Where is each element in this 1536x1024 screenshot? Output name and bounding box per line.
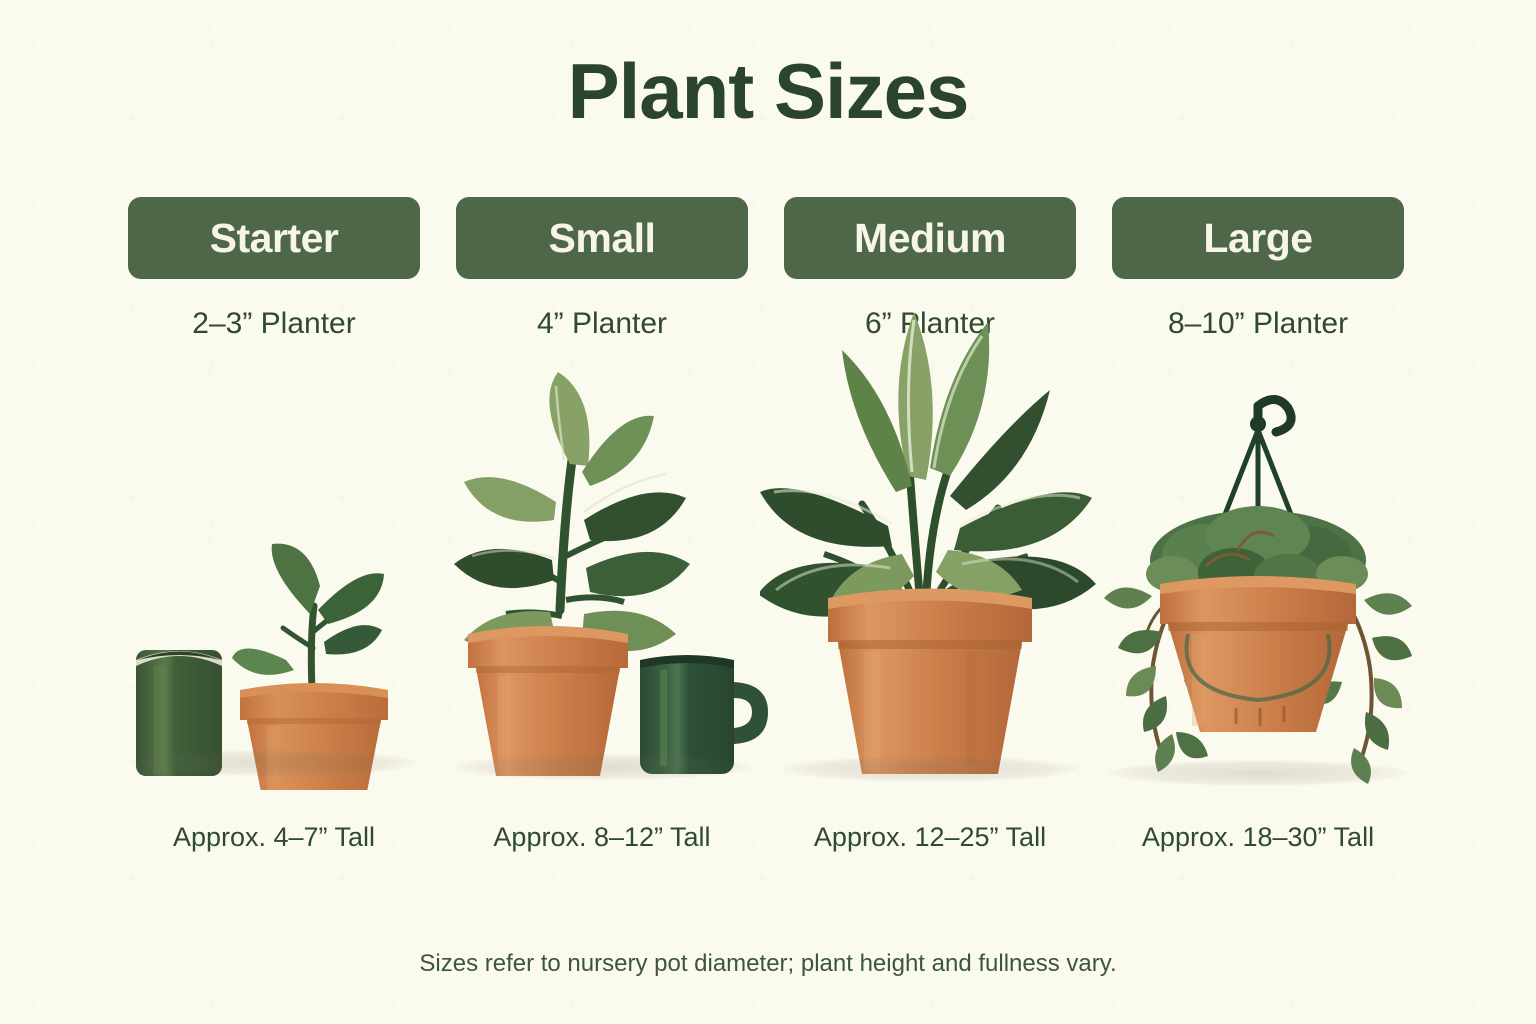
- planter-size-large: 8–10” Planter: [1112, 307, 1404, 341]
- large-illustration-svg: [1088, 360, 1428, 790]
- height-note-medium: Approx. 12–25” Tall: [774, 818, 1086, 856]
- leaf: [324, 625, 382, 654]
- leaf: [930, 322, 989, 476]
- broadleaf-plant: [760, 312, 1096, 617]
- ground-shadow: [452, 754, 752, 780]
- vine-leaf: [1365, 712, 1389, 750]
- size-column-medium: Medium 6” Planter: [784, 0, 1076, 1024]
- vine-leaf: [1143, 696, 1167, 732]
- vine-leaf: [1374, 678, 1402, 708]
- badge-large[interactable]: Large: [1112, 197, 1404, 279]
- leaf: [318, 573, 384, 624]
- vine-leaf: [1364, 593, 1412, 614]
- small-illustration-svg: [432, 360, 772, 790]
- starter-illustration-svg: [104, 360, 444, 790]
- vine-leaf: [1372, 636, 1412, 660]
- illustration-starter: [104, 360, 444, 790]
- vine-leaf: [1104, 587, 1152, 608]
- planter-size-starter: 2–3” Planter: [128, 307, 420, 341]
- ground-shadow: [129, 750, 419, 776]
- height-note-starter: Approx. 4–7” Tall: [118, 818, 430, 856]
- leaf: [272, 544, 320, 614]
- badge-medium[interactable]: Medium: [784, 197, 1076, 279]
- badge-small[interactable]: Small: [456, 197, 748, 279]
- illustration-large: [1088, 360, 1428, 790]
- leaf: [464, 477, 556, 522]
- hanging-basket-pot: [1160, 576, 1356, 732]
- leaf: [232, 648, 294, 674]
- leaf: [586, 552, 690, 596]
- medium-illustration-svg: [760, 300, 1100, 790]
- ground-shadow: [780, 756, 1080, 782]
- illustration-small: [432, 360, 772, 790]
- footer-note: Sizes refer to nursery pot diameter; pla…: [0, 950, 1536, 978]
- badge-starter[interactable]: Starter: [128, 197, 420, 279]
- ground-shadow: [1108, 760, 1408, 786]
- height-note-large: Approx. 18–30” Tall: [1102, 818, 1414, 856]
- planter-size-small: 4” Planter: [456, 307, 748, 341]
- hanging-hook-icon: [1250, 399, 1291, 432]
- illustration-medium: [760, 300, 1100, 790]
- plant-sizes-infographic: Plant Sizes Starter 2–3” Planter: [0, 0, 1536, 1024]
- leafy-plant: [454, 372, 690, 653]
- size-column-starter: Starter 2–3” Planter: [128, 0, 420, 1024]
- size-column-large: Large 8–10” Planter: [1112, 0, 1404, 1024]
- height-note-small: Approx. 8–12” Tall: [446, 818, 758, 856]
- size-column-small: Small 4” Planter: [456, 0, 748, 1024]
- leaf: [582, 416, 654, 486]
- vine-leaf: [1176, 732, 1208, 758]
- terracotta-pot: [828, 589, 1032, 775]
- leaf: [584, 492, 686, 541]
